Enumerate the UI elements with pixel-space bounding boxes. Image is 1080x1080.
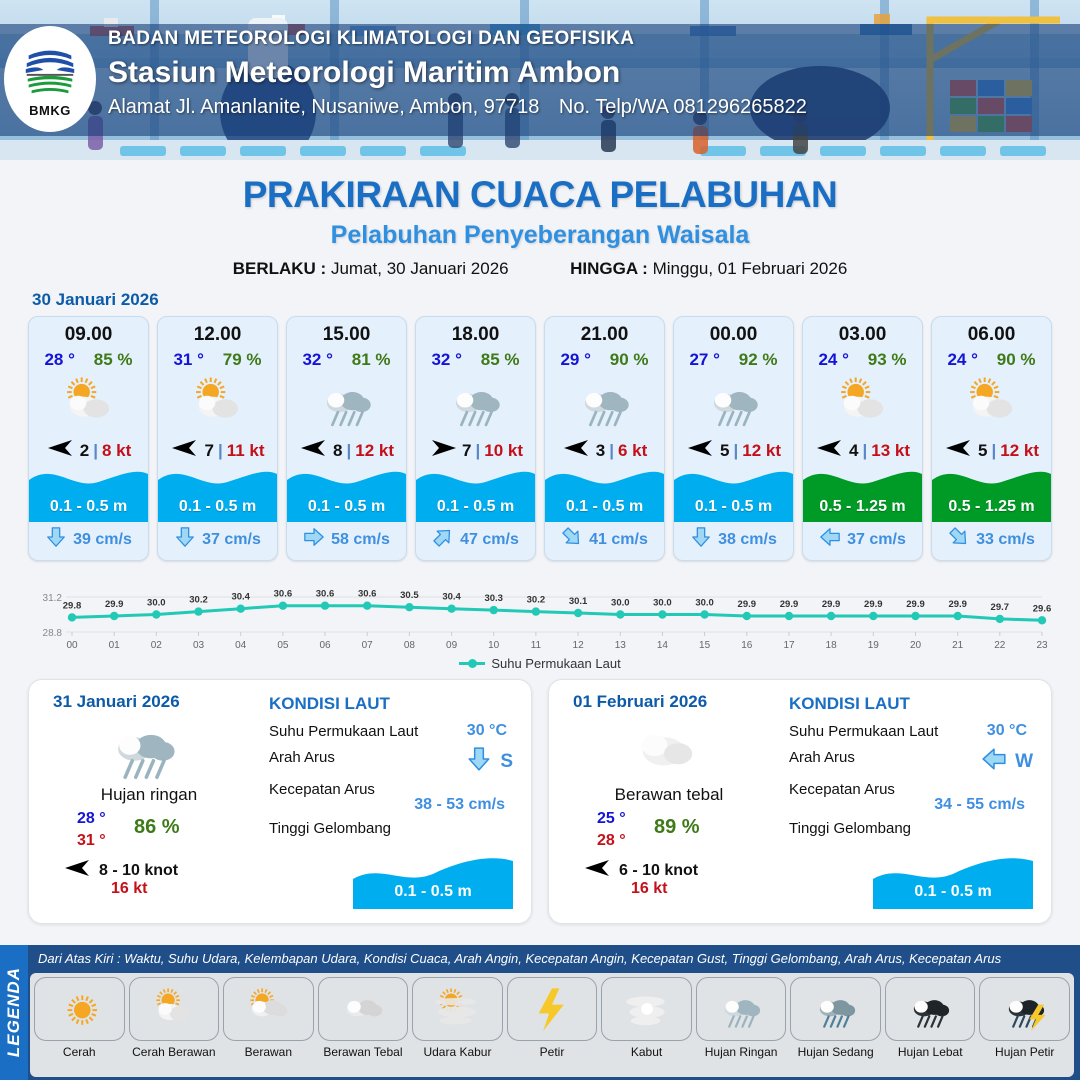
wave-height-label: Tinggi Gelombang <box>789 820 1039 837</box>
svg-text:07: 07 <box>362 640 374 651</box>
svg-text:01: 01 <box>109 640 121 651</box>
station-phone: No. Telp/WA 081296265822 <box>559 96 807 118</box>
title-block: PRAKIRAAN CUACA PELABUHAN Pelabuhan Peny… <box>0 174 1080 279</box>
wind-separator: | <box>346 441 351 461</box>
weather-moderate-rain-icon <box>790 977 881 1041</box>
current-speed: 47 cm/s <box>460 531 519 549</box>
station-name: Stasiun Meteorologi Maritim Ambon <box>108 56 807 90</box>
wind-separator: | <box>733 441 738 461</box>
daily-temp-min: 28 ° <box>77 810 106 828</box>
current-direction-icon <box>174 526 196 553</box>
svg-text:30.0: 30.0 <box>611 598 630 609</box>
wind-speed: 6 kt <box>618 441 647 461</box>
svg-text:30.0: 30.0 <box>695 598 714 609</box>
wave-height: 0.1 - 0.5 m <box>29 498 148 516</box>
svg-text:06: 06 <box>319 640 331 651</box>
weather-partly-cloudy-icon <box>29 372 148 434</box>
hourly-card: 12.00 31 ° 79 % 7 | 11 kt 0.1 - 0.5 m 37… <box>157 316 278 561</box>
wind-direction-value: 5 <box>720 441 729 461</box>
weather-overcast-icon <box>318 977 409 1041</box>
card-temperature: 31 ° <box>173 350 203 370</box>
legend-item-label: Cerah <box>63 1046 96 1059</box>
svg-text:12: 12 <box>573 640 585 651</box>
svg-text:30.0: 30.0 <box>653 598 672 609</box>
legend-item-label: Hujan Petir <box>995 1046 1054 1059</box>
svg-text:10: 10 <box>488 640 500 651</box>
hourly-date-label: 30 Januari 2026 <box>32 290 1080 310</box>
legend-item: Hujan Sedang <box>790 977 881 1077</box>
validity-row: BERLAKU : Jumat, 30 Januari 2026 HINGGA … <box>0 259 1080 279</box>
svg-text:11: 11 <box>531 640 542 651</box>
wind-speed: 13 kt <box>871 441 910 461</box>
card-temperature: 24 ° <box>818 350 848 370</box>
card-time: 09.00 <box>29 324 148 346</box>
chart-legend-label: Suhu Permukaan Laut <box>491 656 620 671</box>
daily-wind: 8 - 10 knot <box>99 862 178 880</box>
card-time: 00.00 <box>674 324 793 346</box>
svg-text:30.2: 30.2 <box>527 595 546 606</box>
weather-cloudy-icon <box>619 718 709 780</box>
legend-item-label: Hujan Lebat <box>898 1046 963 1059</box>
legend-item-label: Berawan Tebal <box>323 1046 402 1059</box>
card-humidity: 93 % <box>868 350 907 370</box>
legend-item: Udara Kabur <box>412 977 503 1077</box>
page-subtitle: Pelabuhan Penyeberangan Waisala <box>0 221 1080 250</box>
weather-partly-cloudy-icon <box>932 372 1051 434</box>
hourly-card: 15.00 32 ° 81 % 8 | 12 kt 0.1 - 0.5 m 58… <box>286 316 407 561</box>
weather-heavy-rain-icon <box>885 977 976 1041</box>
station-address: Alamat Jl. Amanlanite, Nusaniwe, Ambon, … <box>108 96 539 118</box>
weather-sunny-icon <box>34 977 125 1041</box>
daily-gust: 16 kt <box>111 880 147 898</box>
card-time: 15.00 <box>287 324 406 346</box>
wind-direction-value: 8 <box>333 441 342 461</box>
current-speed-value: 34 - 55 cm/s <box>934 796 1025 814</box>
chart-legend: Suhu Permukaan Laut <box>0 656 1080 671</box>
card-temperature: 29 ° <box>560 350 590 370</box>
legend-item: Cerah <box>34 977 125 1077</box>
legend-item: Berawan Tebal <box>318 977 409 1077</box>
wind-direction-value: 2 <box>80 441 89 461</box>
daily-humidity: 86 % <box>134 816 180 839</box>
daily-humidity: 89 % <box>654 816 700 839</box>
current-direction-icon <box>819 526 841 553</box>
card-time: 03.00 <box>803 324 922 346</box>
legend-item: Hujan Lebat <box>885 977 976 1077</box>
current-direction-icon <box>466 746 492 777</box>
wind-separator: | <box>475 441 480 461</box>
weather-light-rain-icon <box>674 372 793 434</box>
svg-text:14: 14 <box>657 640 669 651</box>
weather-light-rain-icon <box>99 718 189 780</box>
wave-height-value: 0.1 - 0.5 m <box>353 883 513 901</box>
current-direction-icon <box>948 526 970 553</box>
legend-note: Dari Atas Kiri : Waktu, Suhu Udara, Kele… <box>38 951 1001 966</box>
daily-condition: Berawan tebal <box>559 785 779 805</box>
legend-section: LEGENDA Dari Atas Kiri : Waktu, Suhu Uda… <box>0 945 1080 1080</box>
weather-lightning-icon <box>507 977 598 1041</box>
hourly-card: 18.00 32 ° 85 % 7 | 10 kt 0.1 - 0.5 m 47… <box>415 316 536 561</box>
svg-text:13: 13 <box>615 640 627 651</box>
agency-name: BADAN METEOROLOGI KLIMATOLOGI DAN GEOFIS… <box>108 28 807 50</box>
svg-text:29.9: 29.9 <box>822 599 841 610</box>
card-temperature: 27 ° <box>689 350 719 370</box>
svg-text:31.2: 31.2 <box>43 593 63 604</box>
legend-item-label: Hujan Ringan <box>705 1046 778 1059</box>
wave-height-label: Tinggi Gelombang <box>269 820 519 837</box>
card-humidity: 85 % <box>481 350 520 370</box>
legend-item: Petir <box>507 977 598 1077</box>
current-direction-icon <box>690 526 712 553</box>
weather-haze-icon <box>412 977 503 1041</box>
wave-height: 0.1 - 0.5 m <box>158 498 277 516</box>
current-direction-icon <box>561 526 583 553</box>
svg-text:22: 22 <box>994 640 1006 651</box>
svg-text:00: 00 <box>66 640 78 651</box>
hourly-card: 00.00 27 ° 92 % 5 | 12 kt 0.1 - 0.5 m 38… <box>673 316 794 561</box>
legend-item: Cerah Berawan <box>129 977 220 1077</box>
hourly-card: 03.00 24 ° 93 % 4 | 13 kt 0.5 - 1.25 m 3… <box>802 316 923 561</box>
current-direction-icon <box>303 526 325 553</box>
current-speed: 58 cm/s <box>331 531 390 549</box>
svg-text:29.6: 29.6 <box>1033 603 1052 614</box>
svg-text:29.9: 29.9 <box>738 599 757 610</box>
svg-text:03: 03 <box>193 640 205 651</box>
svg-text:08: 08 <box>404 640 416 651</box>
wind-separator: | <box>218 441 223 461</box>
chart-legend-marker <box>459 662 485 665</box>
daily-card: 31 Januari 2026 Hujan ringan 28 ° 31 ° 8… <box>28 679 532 924</box>
wave-height: 0.1 - 0.5 m <box>545 498 664 516</box>
current-direction-value: S <box>500 751 513 773</box>
weather-light-rain-icon <box>416 372 535 434</box>
current-speed-value: 38 - 53 cm/s <box>414 796 505 814</box>
svg-text:02: 02 <box>151 640 163 651</box>
weather-light-rain-icon <box>696 977 787 1041</box>
card-time: 06.00 <box>932 324 1051 346</box>
bmkg-logo: BMKG <box>4 26 96 132</box>
current-direction-icon <box>45 526 67 553</box>
wave-height-value: 0.1 - 0.5 m <box>873 883 1033 901</box>
daily-card: 01 Februari 2026 Berawan tebal 25 ° 28 °… <box>548 679 1052 924</box>
hourly-card: 09.00 28 ° 85 % 2 | 8 kt 0.1 - 0.5 m 39 … <box>28 316 149 561</box>
wind-direction-value: 4 <box>849 441 858 461</box>
legend-items: Cerah Cerah Berawan Berawan Berawan Teba… <box>30 973 1074 1077</box>
daily-temp-max: 28 ° <box>597 832 626 850</box>
wind-direction-icon <box>583 858 613 883</box>
legend-item-label: Hujan Sedang <box>798 1046 874 1059</box>
wind-separator: | <box>609 441 614 461</box>
sst-value: 30 °C <box>987 722 1027 740</box>
weather-light-rain-icon <box>287 372 406 434</box>
svg-text:04: 04 <box>235 640 247 651</box>
svg-text:29.9: 29.9 <box>105 599 124 610</box>
svg-text:29.9: 29.9 <box>948 599 967 610</box>
wave-height: 0.5 - 1.25 m <box>932 498 1051 516</box>
card-time: 12.00 <box>158 324 277 346</box>
weather-light-rain-icon <box>545 372 664 434</box>
wave-height: 0.1 - 0.5 m <box>287 498 406 516</box>
svg-text:30.0: 30.0 <box>147 598 166 609</box>
svg-text:30.3: 30.3 <box>484 593 503 604</box>
daily-temp-min: 25 ° <box>597 810 626 828</box>
legend-item: Hujan Ringan <box>696 977 787 1077</box>
sea-condition-title: KONDISI LAUT <box>789 694 1039 714</box>
current-speed: 38 cm/s <box>718 531 777 549</box>
wind-direction-value: 7 <box>462 441 471 461</box>
wind-direction-value: 5 <box>978 441 987 461</box>
card-humidity: 79 % <box>223 350 262 370</box>
current-speed: 41 cm/s <box>589 531 648 549</box>
svg-text:29.9: 29.9 <box>906 599 925 610</box>
svg-text:30.6: 30.6 <box>358 589 377 600</box>
daily-temp-max: 31 ° <box>77 832 106 850</box>
current-speed: 33 cm/s <box>976 531 1035 549</box>
card-temperature: 32 ° <box>431 350 461 370</box>
current-direction-icon <box>432 526 454 553</box>
svg-text:29.7: 29.7 <box>991 602 1010 613</box>
wind-separator: | <box>991 441 996 461</box>
svg-text:28.8: 28.8 <box>43 628 63 639</box>
wind-speed: 11 kt <box>227 441 265 461</box>
card-time: 21.00 <box>545 324 664 346</box>
svg-text:19: 19 <box>868 640 880 651</box>
wave-height: 0.1 - 0.5 m <box>416 498 535 516</box>
berlaku-label: BERLAKU : <box>233 259 327 278</box>
current-direction-value: W <box>1015 751 1033 773</box>
legend-item: Kabut <box>601 977 692 1077</box>
legenda-tab-label: LEGENDA <box>4 967 24 1057</box>
wave-height: 0.1 - 0.5 m <box>674 498 793 516</box>
wind-separator: | <box>93 441 98 461</box>
svg-text:30.1: 30.1 <box>569 596 588 607</box>
weather-partly-cloudy-icon <box>803 372 922 434</box>
sst-chart: 31.228.829.80029.90130.00230.20330.40430… <box>28 569 1052 654</box>
hourly-card: 06.00 24 ° 90 % 5 | 12 kt 0.5 - 1.25 m 3… <box>931 316 1052 561</box>
wind-direction-value: 3 <box>596 441 605 461</box>
svg-text:21: 21 <box>952 640 964 651</box>
current-speed: 37 cm/s <box>847 531 906 549</box>
daily-wind: 6 - 10 knot <box>619 862 698 880</box>
card-time: 18.00 <box>416 324 535 346</box>
svg-text:15: 15 <box>699 640 711 651</box>
weather-partly-cloudy-icon <box>129 977 220 1041</box>
current-speed: 39 cm/s <box>73 531 132 549</box>
wind-speed: 12 kt <box>1000 441 1039 461</box>
svg-text:23: 23 <box>1036 640 1048 651</box>
wind-speed: 10 kt <box>484 441 523 461</box>
svg-text:30.5: 30.5 <box>400 590 419 601</box>
wind-speed: 8 kt <box>102 441 131 461</box>
legend-item-label: Udara Kabur <box>423 1046 491 1059</box>
weather-fog-icon <box>601 977 692 1041</box>
page-title: PRAKIRAAN CUACA PELABUHAN <box>0 174 1080 216</box>
legend-item: Berawan <box>223 977 314 1077</box>
berlaku-value: Jumat, 30 Januari 2026 <box>331 259 509 278</box>
wind-direction-value: 7 <box>204 441 213 461</box>
svg-text:18: 18 <box>826 640 838 651</box>
legend-item-label: Kabut <box>631 1046 662 1059</box>
hingga-label: HINGGA : <box>570 259 648 278</box>
weather-partly-cloudy-icon <box>158 372 277 434</box>
wind-speed: 12 kt <box>742 441 781 461</box>
bmkg-logo-icon <box>19 40 81 102</box>
page-header: BMKG BADAN METEOROLOGI KLIMATOLOGI DAN G… <box>0 0 1080 160</box>
sst-value: 30 °C <box>467 722 507 740</box>
card-temperature: 24 ° <box>947 350 977 370</box>
sea-condition-title: KONDISI LAUT <box>269 694 519 714</box>
legend-item-label: Cerah Berawan <box>132 1046 215 1059</box>
svg-text:29.8: 29.8 <box>63 600 82 611</box>
card-humidity: 81 % <box>352 350 391 370</box>
wind-direction-icon <box>63 858 93 883</box>
card-humidity: 92 % <box>739 350 778 370</box>
bmkg-logo-text: BMKG <box>29 103 71 118</box>
daily-gust: 16 kt <box>631 880 667 898</box>
hourly-card: 21.00 29 ° 90 % 3 | 6 kt 0.1 - 0.5 m 41 … <box>544 316 665 561</box>
hingga-value: Minggu, 01 Februari 2026 <box>653 259 848 278</box>
weather-cloudy-sun-icon <box>223 977 314 1041</box>
weather-thunderstorm-icon <box>979 977 1070 1041</box>
svg-text:30.4: 30.4 <box>231 592 250 603</box>
svg-text:17: 17 <box>783 640 795 651</box>
card-humidity: 90 % <box>997 350 1036 370</box>
svg-text:29.9: 29.9 <box>864 599 883 610</box>
daily-condition: Hujan ringan <box>39 785 259 805</box>
card-humidity: 90 % <box>610 350 649 370</box>
current-direction-icon <box>981 746 1007 777</box>
svg-text:05: 05 <box>277 640 289 651</box>
wave-height: 0.5 - 1.25 m <box>803 498 922 516</box>
svg-text:29.9: 29.9 <box>780 599 799 610</box>
daily-forecast-row: 31 Januari 2026 Hujan ringan 28 ° 31 ° 8… <box>0 671 1080 924</box>
card-temperature: 32 ° <box>302 350 332 370</box>
card-temperature: 28 ° <box>44 350 74 370</box>
legenda-tab: LEGENDA <box>0 945 28 1080</box>
legend-item-label: Berawan <box>245 1046 292 1059</box>
wind-speed: 12 kt <box>355 441 394 461</box>
wind-separator: | <box>862 441 867 461</box>
hourly-forecast-row: 09.00 28 ° 85 % 2 | 8 kt 0.1 - 0.5 m 39 … <box>0 310 1080 561</box>
legend-item: Hujan Petir <box>979 977 1070 1077</box>
svg-text:16: 16 <box>741 640 753 651</box>
svg-text:30.4: 30.4 <box>442 592 461 603</box>
svg-text:09: 09 <box>446 640 458 651</box>
current-speed: 37 cm/s <box>202 531 261 549</box>
svg-text:30.6: 30.6 <box>316 589 335 600</box>
svg-text:20: 20 <box>910 640 922 651</box>
svg-text:30.2: 30.2 <box>189 595 208 606</box>
card-humidity: 85 % <box>94 350 133 370</box>
svg-text:30.6: 30.6 <box>274 589 293 600</box>
legend-item-label: Petir <box>540 1046 565 1059</box>
